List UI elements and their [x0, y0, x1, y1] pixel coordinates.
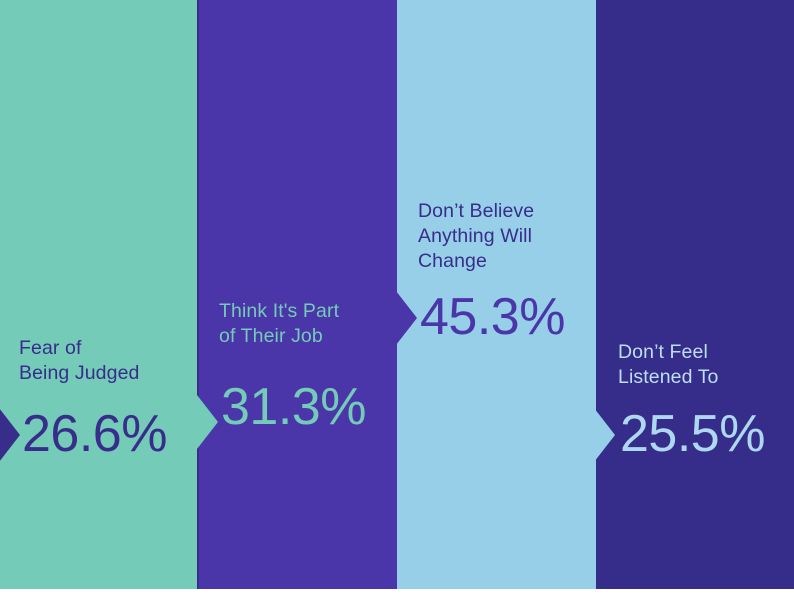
column-value: 26.6%	[22, 408, 167, 460]
column-label: Don’t Feel Listened To	[618, 340, 719, 390]
chart-column-dont-believe-anything-will-change: Don’t Believe Anything Will Change 45.3%	[397, 0, 596, 589]
arrow-marker-icon	[396, 291, 417, 345]
chart-column-fear-of-being-judged: Fear of Being Judged 26.6%	[0, 0, 197, 589]
column-value: 31.3%	[221, 381, 366, 433]
column-value: 45.3%	[420, 291, 565, 343]
column-value: 25.5%	[620, 408, 765, 460]
arrow-marker-icon	[0, 408, 20, 462]
arrow-marker-icon	[594, 408, 615, 462]
column-chart: Fear of Being Judged 26.6% Think It's Pa…	[0, 0, 794, 589]
column-label: Don’t Believe Anything Will Change	[418, 199, 534, 274]
infographic-root: Fear of Being Judged 26.6% Think It's Pa…	[0, 0, 794, 595]
chart-column-dont-feel-listened-to: Don’t Feel Listened To 25.5%	[596, 0, 794, 589]
arrow-marker-icon	[197, 395, 218, 449]
column-label: Fear of Being Judged	[19, 336, 139, 386]
column-label: Think It's Part of Their Job	[219, 299, 339, 349]
chart-column-think-its-part-of-their-job: Think It's Part of Their Job 31.3%	[197, 0, 397, 589]
